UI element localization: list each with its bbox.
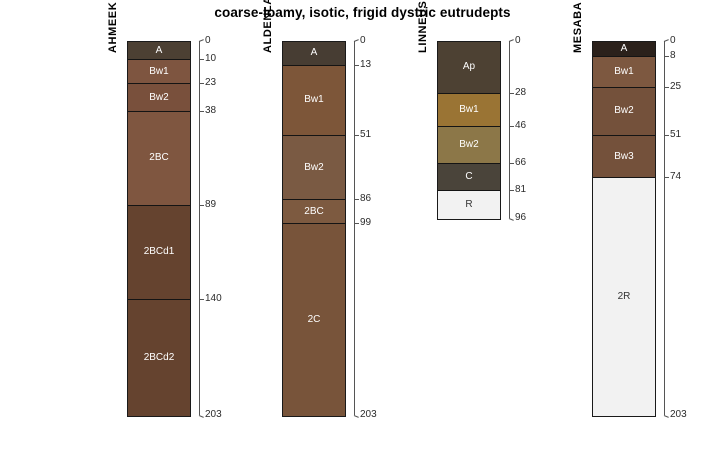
profile-name-label: MESABA: [572, 2, 584, 53]
soil-horizon[interactable]: Bw1: [438, 94, 500, 127]
depth-tick: [664, 87, 669, 88]
depth-tick-label: 74: [670, 172, 681, 182]
horizon-label: Ap: [463, 62, 475, 72]
soil-horizon[interactable]: Bw2: [128, 84, 190, 112]
depth-tick-label: 0: [360, 36, 366, 46]
depth-tick: [509, 126, 514, 127]
horizon-label: Bw1: [304, 95, 323, 105]
depth-tick: [199, 59, 204, 60]
depth-axis-line: [354, 41, 355, 415]
soil-horizon[interactable]: Bw2: [438, 127, 500, 164]
depth-tick-label: 81: [515, 185, 526, 195]
horizon-label: Bw2: [459, 140, 478, 150]
depth-tick: [199, 205, 204, 206]
depth-tick: [509, 93, 514, 94]
depth-axis-line: [509, 41, 510, 218]
horizon-label: R: [465, 200, 472, 210]
horizon-label: Bw2: [614, 106, 633, 116]
profile-column: ABw1Bw2Bw32R: [592, 41, 656, 417]
depth-tick: [354, 223, 359, 224]
horizon-label: A: [311, 48, 318, 58]
horizon-label: 2BCd1: [144, 247, 175, 257]
depth-tick: [354, 39, 359, 42]
depth-tick: [354, 199, 359, 200]
depth-tick-label: 51: [670, 130, 681, 140]
soil-horizon[interactable]: 2BCd2: [128, 300, 190, 416]
profile-name-label: ALDENLAKE: [262, 0, 274, 53]
soil-horizon[interactable]: Bw2: [593, 88, 655, 136]
depth-tick-label: 203: [360, 410, 377, 420]
horizon-label: A: [156, 46, 163, 56]
horizon-label: Bw1: [459, 105, 478, 115]
soil-horizon[interactable]: 2R: [593, 178, 655, 416]
horizon-label: Bw2: [304, 163, 323, 173]
depth-tick: [199, 415, 204, 418]
depth-tick-label: 0: [205, 36, 211, 46]
profile-column: ABw1Bw22BC2BCd12BCd2: [127, 41, 191, 417]
depth-tick: [199, 111, 204, 112]
depth-tick-label: 10: [205, 54, 216, 64]
depth-tick-label: 89: [205, 200, 216, 210]
soil-horizon[interactable]: Bw1: [283, 66, 345, 136]
depth-tick-label: 86: [360, 194, 371, 204]
profile-name-label: AHMEEK: [107, 2, 119, 53]
soil-horizon[interactable]: Bw3: [593, 136, 655, 178]
depth-tick: [664, 135, 669, 136]
depth-tick: [199, 39, 204, 42]
depth-tick: [199, 299, 204, 300]
depth-tick: [509, 218, 514, 221]
horizon-label: Bw1: [149, 67, 168, 77]
depth-tick-label: 25: [670, 82, 681, 92]
depth-tick: [664, 177, 669, 178]
depth-tick: [664, 56, 669, 57]
depth-tick: [354, 65, 359, 66]
soil-horizon[interactable]: Bw1: [128, 60, 190, 84]
horizon-label: Bw2: [149, 93, 168, 103]
soil-horizon[interactable]: Ap: [438, 42, 500, 94]
profile-column: ABw1Bw22BC2C: [282, 41, 346, 417]
depth-tick-label: 203: [670, 410, 687, 420]
depth-tick-label: 140: [205, 294, 222, 304]
soil-horizon[interactable]: 2BC: [283, 200, 345, 224]
depth-tick-label: 46: [515, 121, 526, 131]
horizon-label: Bw1: [614, 67, 633, 77]
depth-tick-label: 38: [205, 106, 216, 116]
depth-tick: [509, 163, 514, 164]
depth-tick: [199, 83, 204, 84]
depth-tick-label: 66: [515, 158, 526, 168]
soil-horizon[interactable]: 2C: [283, 224, 345, 416]
horizon-label: C: [465, 172, 472, 182]
profile-column: ApBw1Bw2CR: [437, 41, 501, 220]
horizon-label: A: [621, 44, 628, 54]
depth-tick-label: 28: [515, 88, 526, 98]
depth-tick-label: 0: [670, 36, 676, 46]
depth-tick: [509, 39, 514, 42]
soil-horizon[interactable]: A: [128, 42, 190, 60]
soil-horizon[interactable]: R: [438, 191, 500, 219]
horizon-label: Bw3: [614, 152, 633, 162]
depth-tick-label: 51: [360, 130, 371, 140]
soil-horizon[interactable]: 2BC: [128, 112, 190, 206]
soil-horizon[interactable]: Bw2: [283, 136, 345, 200]
depth-tick: [354, 135, 359, 136]
depth-tick: [354, 415, 359, 418]
depth-tick-label: 0: [515, 36, 521, 46]
profile-name-label: LINNEUS: [417, 1, 429, 53]
soil-horizon[interactable]: C: [438, 164, 500, 192]
depth-tick-label: 99: [360, 218, 371, 228]
depth-tick-label: 96: [515, 213, 526, 223]
depth-tick-label: 13: [360, 60, 371, 70]
depth-tick-label: 203: [205, 410, 222, 420]
horizon-label: 2C: [308, 315, 321, 325]
soil-horizon[interactable]: Bw1: [593, 57, 655, 88]
horizon-label: 2BC: [304, 207, 323, 217]
depth-tick: [664, 39, 669, 42]
depth-axis-line: [664, 41, 665, 415]
horizon-label: 2R: [618, 292, 631, 302]
soil-horizon[interactable]: A: [283, 42, 345, 66]
depth-tick: [664, 415, 669, 418]
horizon-label: 2BCd2: [144, 353, 175, 363]
depth-axis-line: [199, 41, 200, 415]
soil-horizon[interactable]: 2BCd1: [128, 206, 190, 300]
depth-tick-label: 23: [205, 78, 216, 88]
depth-tick: [509, 190, 514, 191]
depth-tick-label: 8: [670, 51, 676, 61]
horizon-label: 2BC: [149, 153, 168, 163]
soil-horizon[interactable]: A: [593, 42, 655, 57]
